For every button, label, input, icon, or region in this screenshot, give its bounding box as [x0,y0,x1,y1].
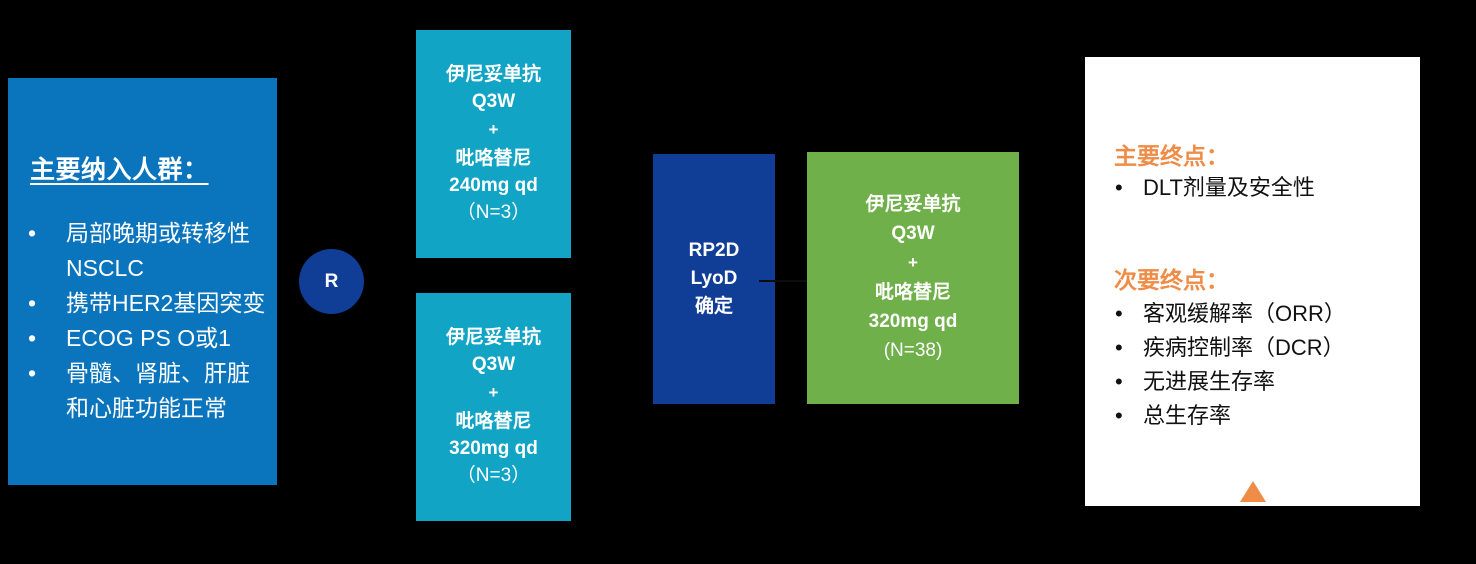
primary-endpoint-list: •DLT剂量及安全性 [1103,171,1412,205]
bullet-icon: • [1115,297,1123,331]
bullet-icon: • [28,216,36,251]
bullet-icon: • [28,286,36,321]
secondary-endpoint-text: 客观缓解率（ORR） [1143,301,1346,326]
list-item: •总生存率 [1103,399,1412,433]
secondary-endpoint-text: 总生存率 [1143,403,1231,428]
arm-2-plus: + [422,378,565,408]
list-item: •局部晚期或转移性NSCLC [18,216,271,286]
primary-endpoint-title: 主要终点： [1114,137,1229,171]
arm-1-schedule: Q3W [422,88,565,115]
arm-1-sample-size: （N=3） [422,199,565,227]
randomization-label: R [325,271,339,293]
list-item: •ECOG PS O或1 [18,321,271,356]
connector-line [759,280,809,282]
eligibility-criterion-text: ECOG PS O或1 [66,325,231,351]
arm-1-drug: 伊尼妥单抗 [422,61,565,88]
list-item: •无进展生存率 [1103,365,1412,399]
list-item: •携带HER2基因突变 [18,286,271,321]
primary-endpoint-text: DLT剂量及安全性 [1143,175,1315,200]
secondary-endpoint-title: 次要终点： [1114,261,1229,295]
expansion-cohort-box: 伊尼妥单抗 Q3W + 吡咯替尼 320mg qd (N=38) [807,152,1019,404]
arm-2-drug: 伊尼妥单抗 [422,324,565,351]
eligibility-criteria-list: •局部晚期或转移性NSCLC •携带HER2基因突变 •ECOG PS O或1 … [18,216,271,426]
bullet-icon: • [1115,331,1123,365]
treatment-arm-2: 伊尼妥单抗 Q3W + 吡咯替尼 320mg qd （N=3） [416,293,571,521]
eligibility-criterion-text: 局部晚期或转移性NSCLC [66,220,250,281]
list-item: •DLT剂量及安全性 [1103,171,1412,205]
arm-1-plus: + [422,115,565,145]
list-item: •骨髓、肾脏、肝脏和心脏功能正常 [18,356,271,426]
expansion-schedule: Q3W [807,219,1019,248]
arm-1-combo: 吡咯替尼 [422,145,565,172]
expansion-drug: 伊尼妥单抗 [807,190,1019,219]
list-item: •疾病控制率（DCR） [1103,331,1412,365]
triangle-marker-icon [1240,481,1266,502]
eligibility-title: 主要纳入人群： [30,150,209,186]
arm-2-combo: 吡咯替尼 [422,408,565,435]
expansion-plus: + [807,248,1019,278]
treatment-arm-1: 伊尼妥单抗 Q3W + 吡咯替尼 240mg qd （N=3） [416,30,571,258]
rp2d-line-1: RP2D [653,237,775,265]
rp2d-line-2: LyoD [653,265,775,293]
bullet-icon: • [1115,171,1123,205]
list-item: •客观缓解率（ORR） [1103,297,1412,331]
secondary-endpoint-list: •客观缓解率（ORR） •疾病控制率（DCR） •无进展生存率 •总生存率 [1103,297,1412,433]
arm-2-schedule: Q3W [422,351,565,378]
bullet-icon: • [28,356,36,391]
expansion-sample-size: (N=38) [807,336,1019,366]
eligibility-criterion-text: 携带HER2基因突变 [66,290,265,316]
eligibility-criterion-text: 骨髓、肾脏、肝脏和心脏功能正常 [66,360,250,421]
arm-2-dose: 320mg qd [422,435,565,462]
arm-1-dose: 240mg qd [422,172,565,199]
trial-design-diagram: 主要纳入人群： •局部晚期或转移性NSCLC •携带HER2基因突变 •ECOG… [0,0,1476,564]
rp2d-determination-box: RP2D LyoD 确定 [653,154,775,404]
bullet-icon: • [1115,399,1123,433]
expansion-combo: 吡咯替尼 [807,278,1019,307]
eligibility-panel: 主要纳入人群： •局部晚期或转移性NSCLC •携带HER2基因突变 •ECOG… [8,78,277,485]
rp2d-line-3: 确定 [653,293,775,321]
arm-2-sample-size: （N=3） [422,462,565,490]
endpoints-panel: 主要终点： •DLT剂量及安全性 次要终点： •客观缓解率（ORR） •疾病控制… [1085,57,1420,506]
bullet-icon: • [1115,365,1123,399]
randomization-node: R [299,249,364,314]
bullet-icon: • [28,321,36,356]
expansion-dose: 320mg qd [807,307,1019,336]
secondary-endpoint-text: 疾病控制率（DCR） [1143,335,1345,360]
secondary-endpoint-text: 无进展生存率 [1143,369,1275,394]
